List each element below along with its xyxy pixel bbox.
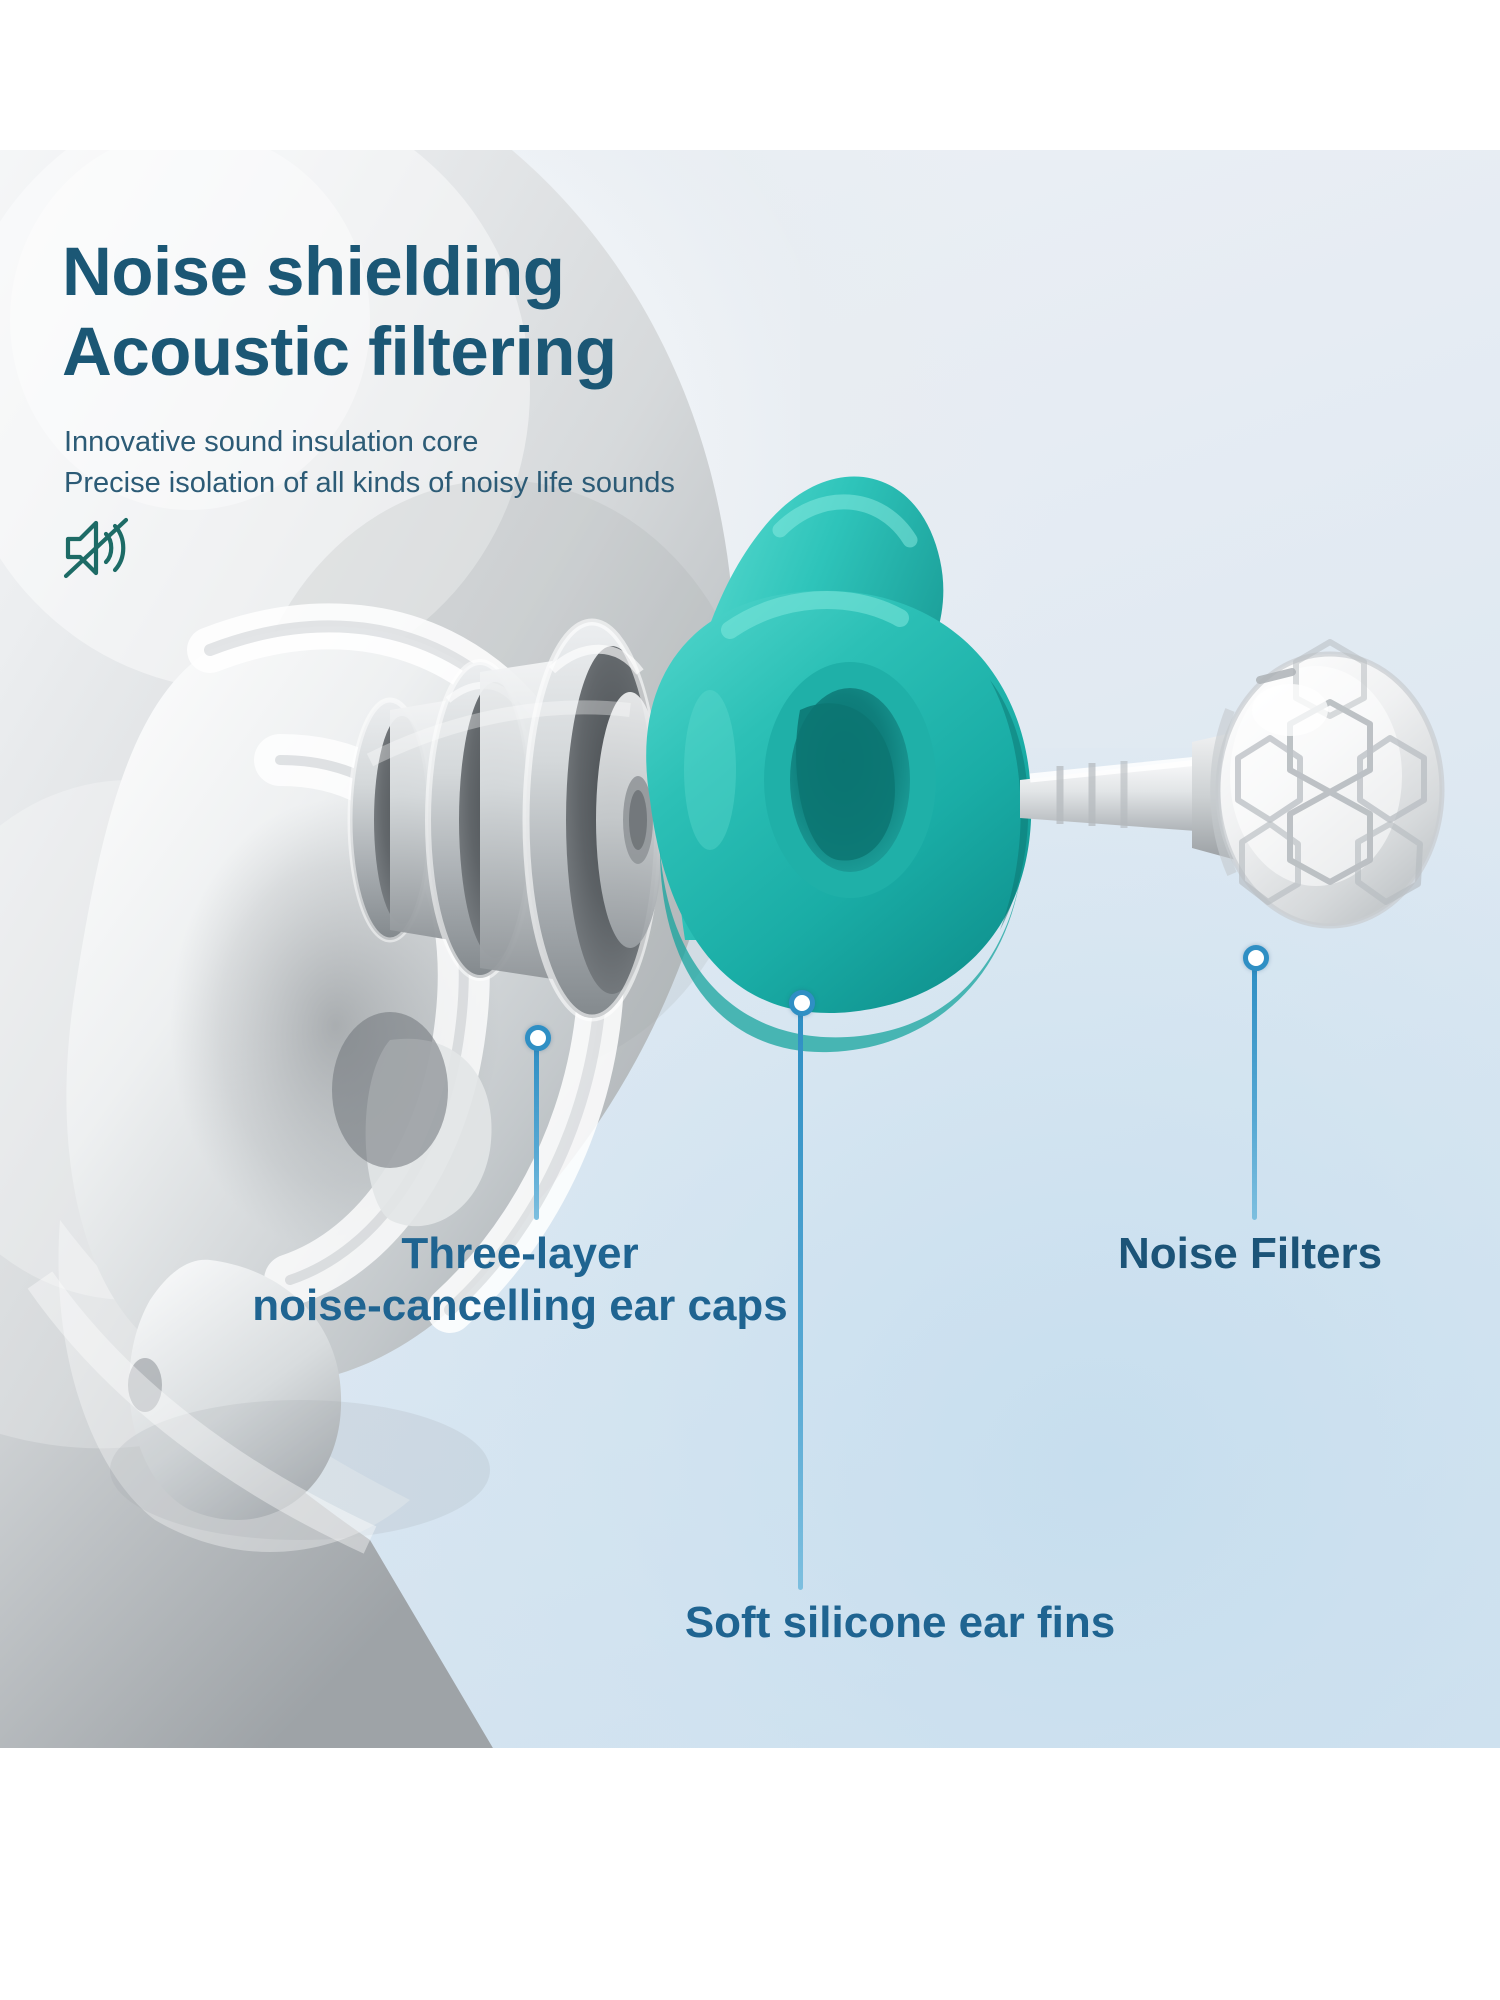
callout-line-noise-filters bbox=[1252, 968, 1257, 1220]
callout-label-noise-filters: Noise Filters bbox=[1040, 1228, 1460, 1280]
callout-dot-noise-filters[interactable] bbox=[1243, 945, 1269, 971]
callout-dot-ear-caps[interactable] bbox=[525, 1025, 551, 1051]
infographic-panel: Noise shielding Acoustic filtering Innov… bbox=[0, 150, 1500, 1748]
callout-dot-ear-fins[interactable] bbox=[789, 990, 815, 1016]
page-title: Noise shielding Acoustic filtering bbox=[62, 232, 962, 392]
mute-speaker-icon bbox=[58, 510, 134, 586]
page-subtitle: Innovative sound insulation core Precise… bbox=[64, 422, 924, 504]
product-infographic-page: Noise shielding Acoustic filtering Innov… bbox=[0, 0, 1500, 2000]
callout-line-ear-fins bbox=[798, 1012, 803, 1590]
callout-line-ear-caps bbox=[534, 1048, 539, 1220]
callout-label-ear-caps: Three-layer noise-cancelling ear caps bbox=[170, 1228, 870, 1332]
callout-label-ear-fins: Soft silicone ear fins bbox=[560, 1597, 1240, 1649]
